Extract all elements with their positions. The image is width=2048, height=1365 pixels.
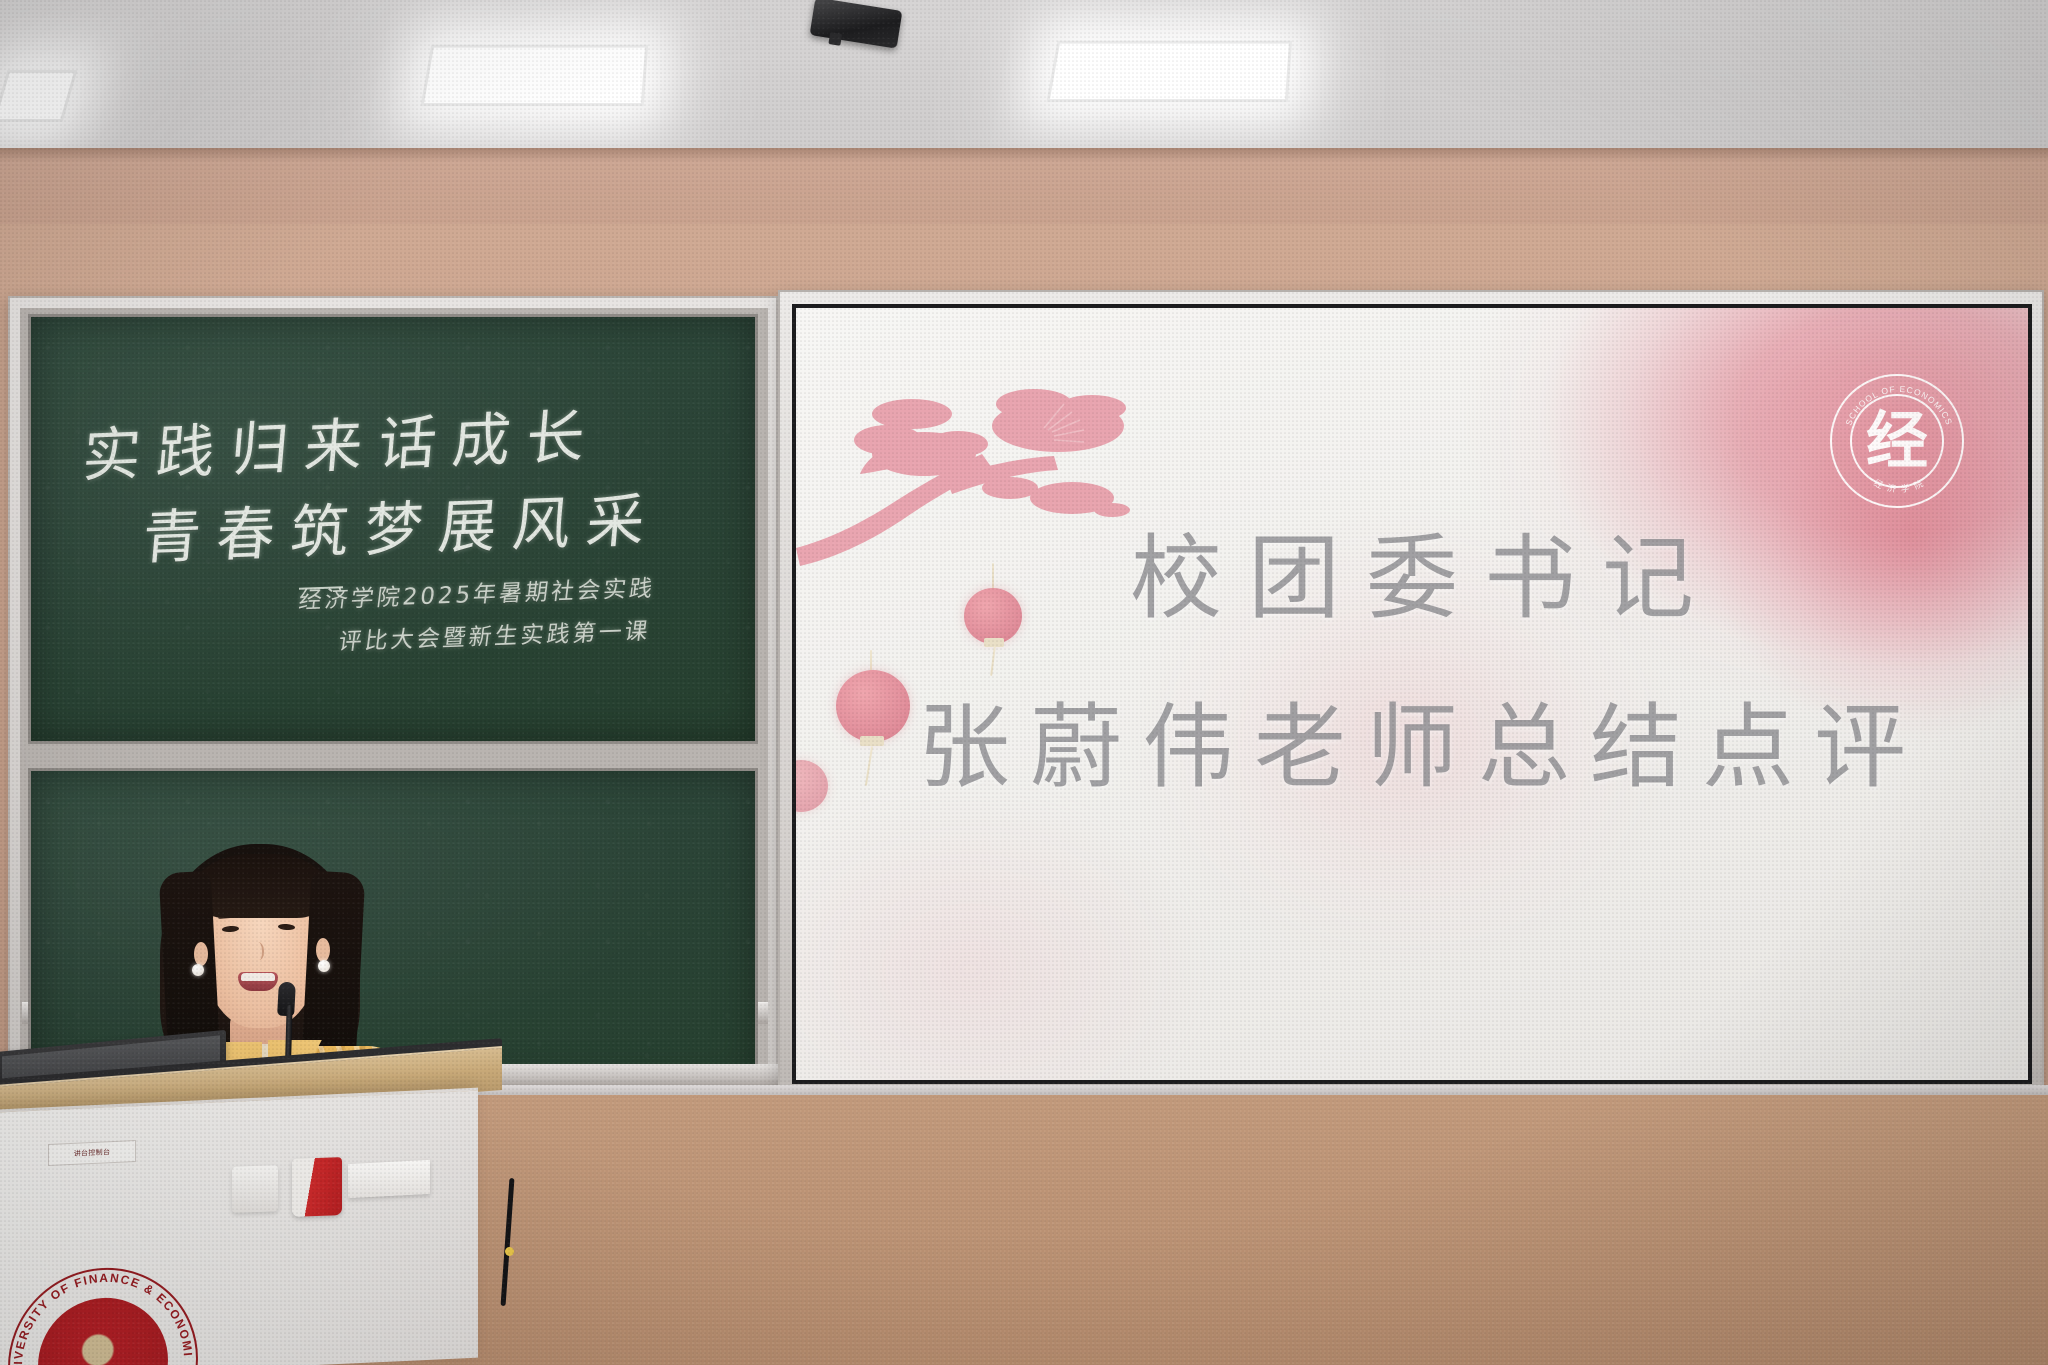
cable-clip-icon (505, 1247, 514, 1256)
presenter-eye-left (222, 925, 239, 932)
ceiling-panel-light (1046, 41, 1292, 102)
pearl-earring-icon (192, 964, 204, 976)
chalkboard-subtitle-line1: 经济学院2025年暑期社会实践 (297, 569, 658, 616)
presenter-ear-right (316, 938, 330, 962)
slide-title-block: 校团委书记 张蔚伟老师总结点评 (796, 504, 2028, 806)
slide-title-line1: 校团委书记 (796, 504, 2028, 637)
presenter-ear-left (194, 942, 208, 966)
classroom-scene: 实践归来话成长 青春筑梦展风采 经济学院2025年暑期社会实践 评比大会暨新生实… (0, 0, 2048, 1365)
presenter-nose (252, 942, 264, 960)
slide-title-line2: 张蔚伟老师总结点评 (796, 673, 2028, 806)
emblem-inner-ring: 经 (1850, 394, 1944, 488)
projector-screen-bezel: SCHOOL OF ECONOMICS 经 济 学 院 经 校团委书记 张蔚伟老… (792, 304, 2032, 1084)
chalkboard-headline-line2: 青春筑梦展风采 (139, 473, 664, 575)
ceiling-panel-light (0, 70, 77, 122)
ceiling-panel-light (421, 45, 649, 106)
school-emblem: SCHOOL OF ECONOMICS 经 济 学 院 经 (1830, 374, 1964, 508)
emblem-center-character: 经 (1866, 410, 1928, 472)
chalkboard-subtitle-line2: 评比大会暨新生实践第一课 (337, 611, 653, 656)
presenter-eye-right (278, 923, 295, 930)
projector-screen-surface: SCHOOL OF ECONOMICS 经 济 学 院 经 校团委书记 张蔚伟老… (796, 308, 2028, 1080)
podium-control-plaque: 讲台控制台 (48, 1140, 136, 1166)
podium-university-logo: UNIVERSITY OF FINANCE & ECONOMICS (8, 1264, 198, 1365)
presenter-teeth (241, 973, 275, 981)
chalkboard-upper-panel: 实践归来话成长 青春筑梦展风采 经济学院2025年暑期社会实践 评比大会暨新生实… (28, 314, 758, 744)
ceiling-shadow (0, 148, 2048, 162)
red-paper-cup[interactable] (292, 1157, 342, 1217)
paper-stack[interactable] (348, 1160, 430, 1198)
projector-screen-frame: SCHOOL OF ECONOMICS 经 济 学 院 经 校团委书记 张蔚伟老… (778, 290, 2044, 1096)
ceiling (0, 0, 2048, 152)
white-cup[interactable] (232, 1165, 278, 1213)
ceiling-projector-mount (810, 0, 903, 49)
pearl-earring-icon (318, 960, 330, 972)
